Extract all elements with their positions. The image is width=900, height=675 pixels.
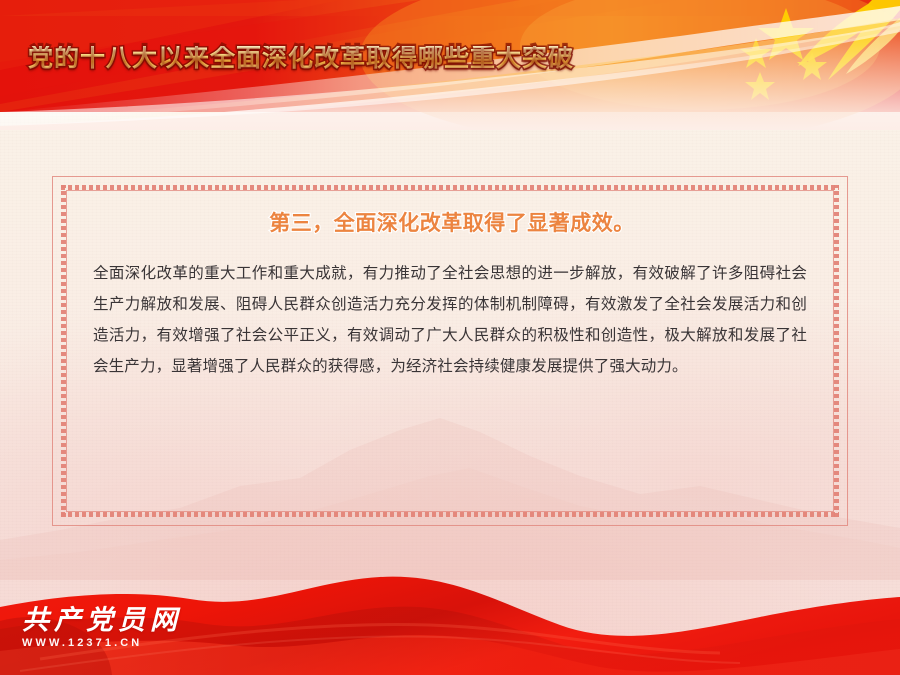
site-logo-url: WWW.12371.CN [22, 637, 252, 649]
content-panel-body: 第三，全面深化改革取得了显著成效。 全面深化改革的重大工作和重大成就，有力推动了… [61, 185, 839, 517]
site-logo[interactable]: 共产党员网 WWW.12371.CN [22, 607, 252, 649]
content-panel-dashed-border: 第三，全面深化改革取得了显著成效。 全面深化改革的重大工作和重大成就，有力推动了… [56, 180, 844, 522]
page-title: 党的十八大以来全面深化改革取得哪些重大突破 [28, 46, 574, 71]
slide-canvas: 党的十八大以来全面深化改革取得哪些重大突破 党的十八大以来全面深化改革取得哪些重… [0, 0, 900, 675]
body-paragraph: 全面深化改革的重大工作和重大成就，有力推动了全社会思想的进一步解放，有效破解了许… [93, 258, 807, 382]
section-heading: 第三，全面深化改革取得了显著成效。 [97, 211, 807, 236]
site-logo-text: 共产党员网 [22, 607, 252, 635]
content-panel: 第三，全面深化改革取得了显著成效。 全面深化改革的重大工作和重大成就，有力推动了… [52, 176, 848, 526]
section-heading-row: 第三，全面深化改革取得了显著成效。 [93, 211, 807, 236]
header-banner: 党的十八大以来全面深化改革取得哪些重大突破 党的十八大以来全面深化改革取得哪些重… [0, 0, 900, 130]
footer-banner: 共产党员网 WWW.12371.CN [0, 555, 900, 675]
